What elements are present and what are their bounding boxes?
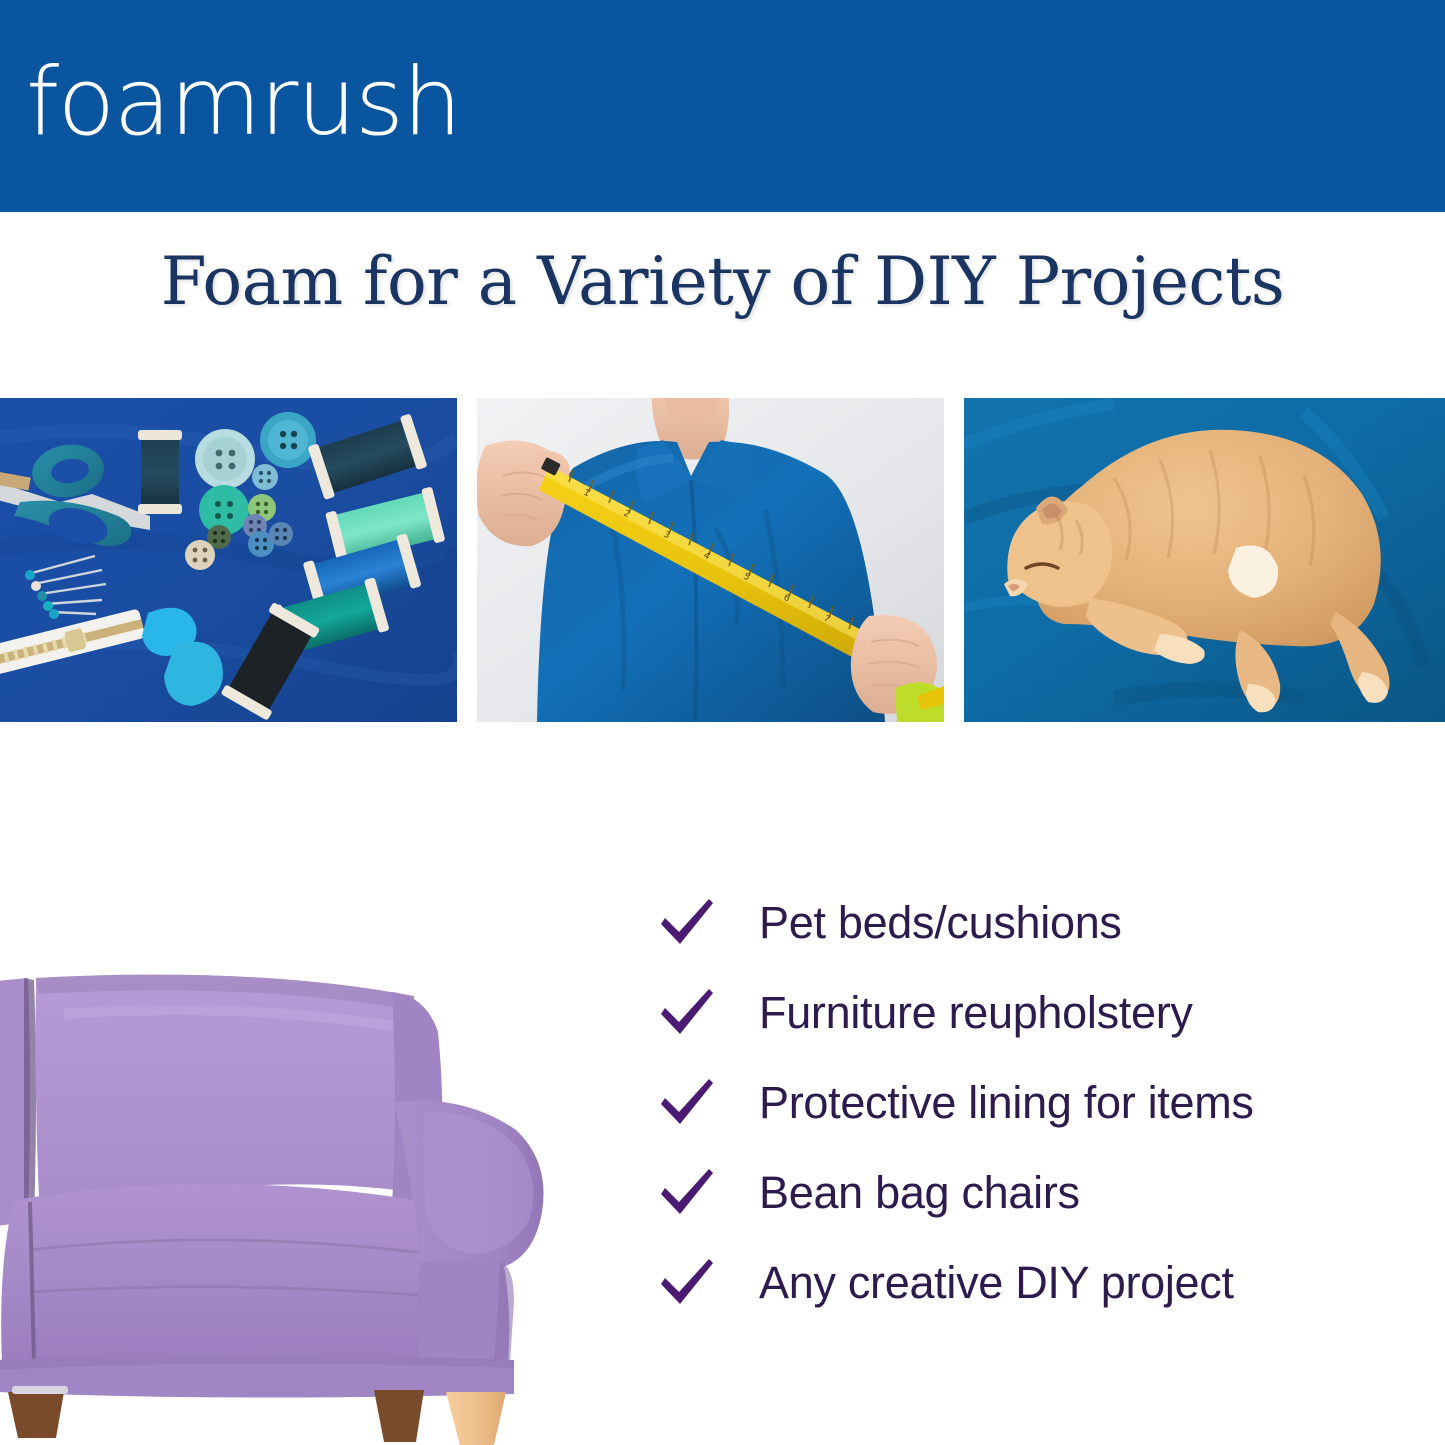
check-icon — [655, 1074, 719, 1132]
cat-on-cushion-photo — [964, 398, 1445, 722]
foamrush-logo[interactable]: foamrush — [26, 56, 461, 150]
brand-banner: foamrush — [0, 0, 1445, 212]
sewing-supplies-photo — [0, 398, 457, 722]
list-item: Pet beds/cushions — [655, 878, 1435, 968]
list-item: Protective lining for items — [655, 1058, 1435, 1148]
list-item: Any creative DIY project — [655, 1238, 1435, 1328]
list-item: Furniture reupholstery — [655, 968, 1435, 1058]
sofa-legs — [8, 1390, 506, 1445]
list-item: Bean bag chairs — [655, 1148, 1435, 1238]
check-icon — [655, 1164, 719, 1222]
benefits-checklist: Pet beds/cushions Furniture reupholstery… — [655, 878, 1435, 1328]
cat-on-cushion-illustration — [964, 398, 1445, 722]
check-icon — [655, 1254, 719, 1312]
benefit-label: Any creative DIY project — [759, 1257, 1234, 1309]
tape-measure-photo: 1 2 3 4 5 6 7 8 — [477, 398, 944, 722]
page-title: Foam for a Variety of DIY Projects — [0, 243, 1445, 320]
benefit-label: Furniture reupholstery — [759, 987, 1193, 1039]
sofa-svg — [0, 962, 564, 1445]
lavender-sofa-illustration — [0, 962, 564, 1445]
sewing-supplies-illustration — [0, 398, 457, 722]
benefit-label: Pet beds/cushions — [759, 897, 1122, 949]
tape-measure-illustration: 1 2 3 4 5 6 7 8 — [477, 398, 944, 722]
photo-gallery-row: 1 2 3 4 5 6 7 8 — [0, 398, 1445, 722]
benefit-label: Bean bag chairs — [759, 1167, 1080, 1219]
check-icon — [655, 894, 719, 952]
check-icon — [655, 984, 719, 1042]
benefit-label: Protective lining for items — [759, 1077, 1254, 1129]
